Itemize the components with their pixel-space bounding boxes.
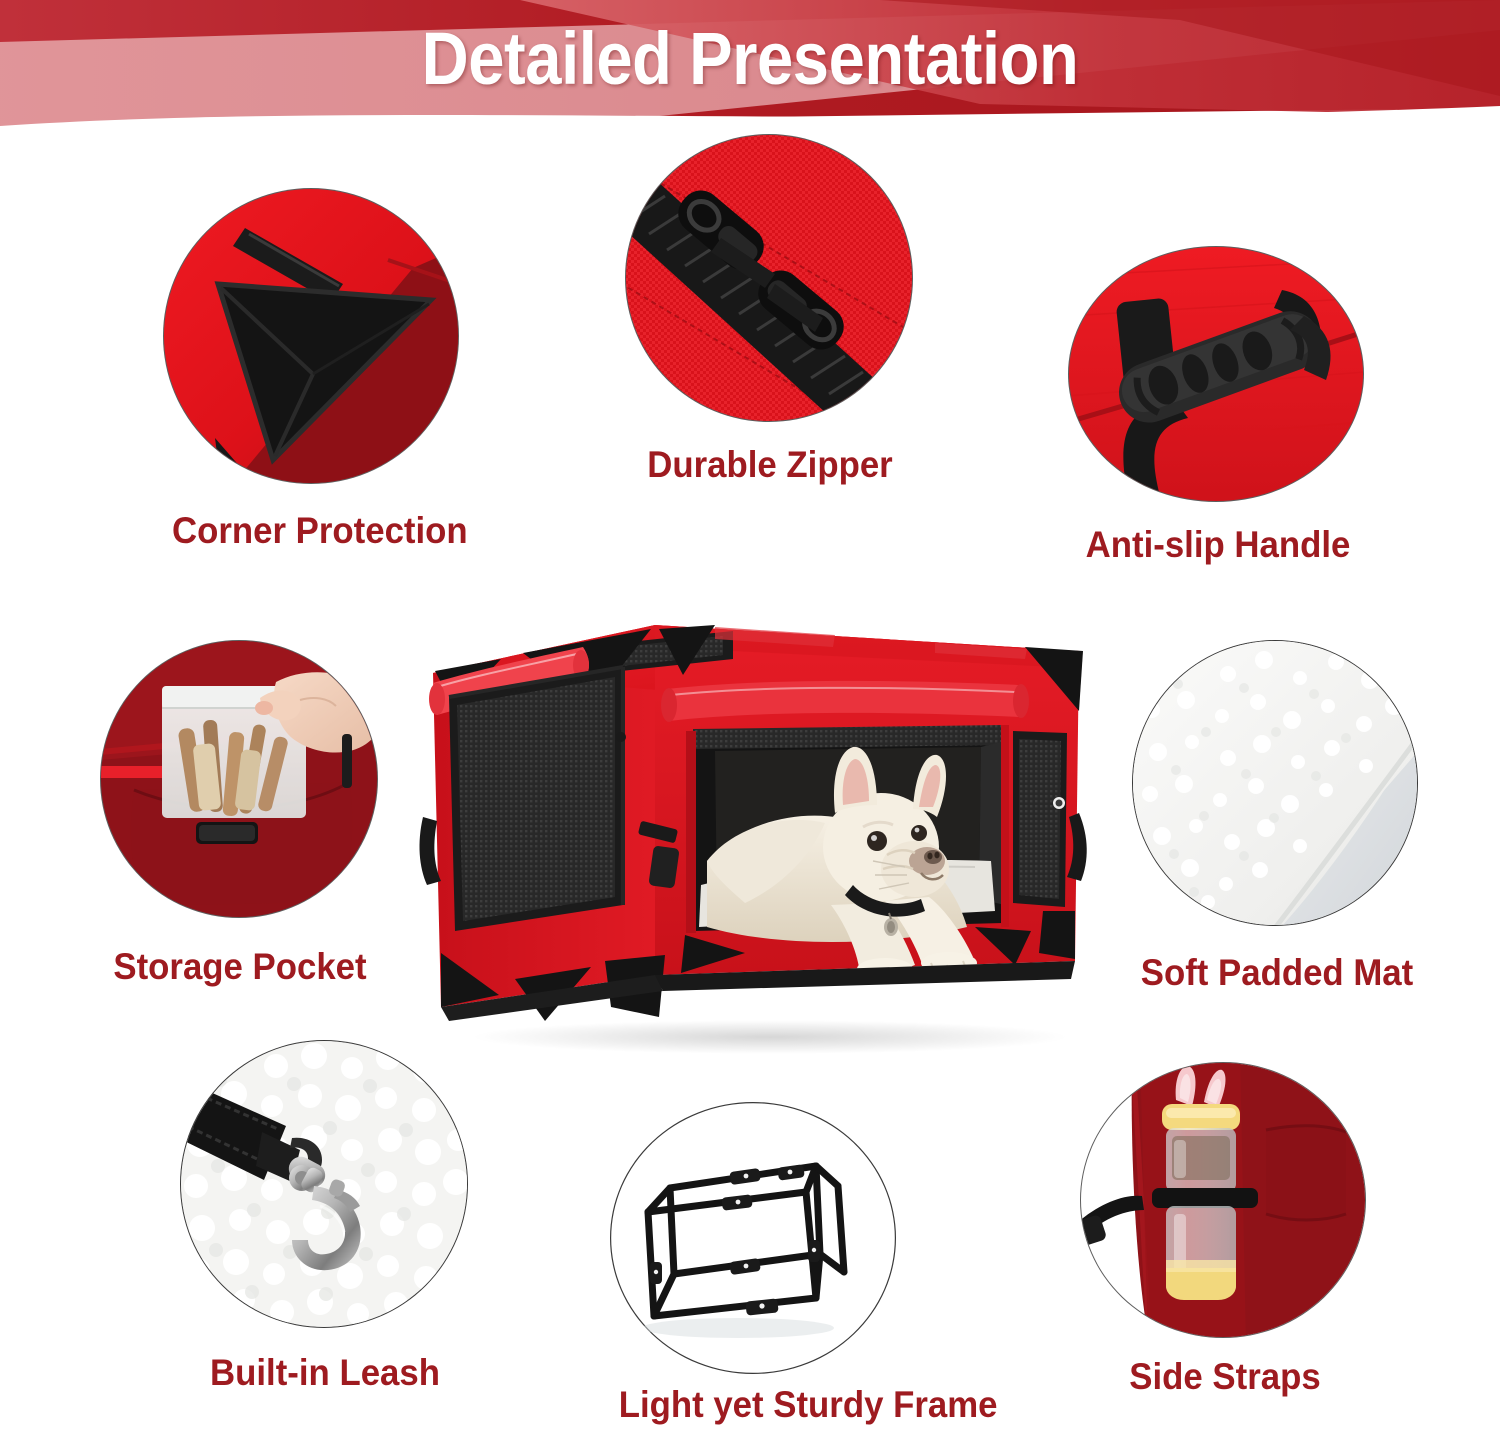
side-straps-art bbox=[1080, 1062, 1366, 1338]
storage-pocket-image bbox=[100, 640, 378, 918]
feature-built-in-leash: Built-in Leash bbox=[180, 1040, 470, 1394]
durable-zipper-art bbox=[625, 134, 913, 422]
anti-slip-handle-image bbox=[1068, 246, 1364, 502]
feature-label-side-straps: Side Straps bbox=[1089, 1356, 1362, 1398]
storage-pocket-art bbox=[100, 640, 378, 918]
feature-label-corner-protection: Corner Protection bbox=[172, 510, 454, 552]
frame-art bbox=[610, 1102, 896, 1374]
feature-label-built-in-leash: Built-in Leash bbox=[189, 1352, 462, 1394]
feature-label-sturdy-frame: Light yet Sturdy Frame bbox=[619, 1384, 892, 1426]
feature-anti-slip-handle: Anti-slip Handle bbox=[1068, 246, 1368, 566]
feature-corner-protection: Corner Protection bbox=[163, 188, 463, 552]
sturdy-frame-image bbox=[610, 1102, 896, 1374]
anti-slip-handle-art bbox=[1068, 246, 1364, 502]
feature-soft-padded-mat: Soft Padded Mat bbox=[1132, 640, 1422, 994]
built-in-leash-art bbox=[180, 1040, 468, 1328]
header-banner: Detailed Presentation bbox=[0, 0, 1500, 132]
feature-label-durable-zipper: Durable Zipper bbox=[634, 444, 907, 486]
feature-label-soft-padded-mat: Soft Padded Mat bbox=[1141, 952, 1414, 994]
page-title: Detailed Presentation bbox=[90, 16, 1410, 101]
product-image: pettycare bbox=[415, 555, 1105, 1050]
feature-storage-pocket: Storage Pocket bbox=[100, 640, 380, 988]
soft-padded-mat-art bbox=[1132, 640, 1418, 926]
corner-protection-image bbox=[163, 188, 459, 484]
durable-zipper-image bbox=[625, 134, 913, 422]
corner-protection-art bbox=[163, 188, 459, 484]
pet-crate-illustration: pettycare bbox=[415, 555, 1105, 1050]
feature-label-storage-pocket: Storage Pocket bbox=[108, 946, 371, 988]
built-in-leash-image bbox=[180, 1040, 468, 1328]
side-straps-image bbox=[1080, 1062, 1366, 1338]
feature-durable-zipper: Durable Zipper bbox=[625, 134, 915, 486]
feature-side-straps: Side Straps bbox=[1080, 1062, 1370, 1398]
soft-padded-mat-image bbox=[1132, 640, 1418, 926]
feature-sturdy-frame: Light yet Sturdy Frame bbox=[610, 1102, 900, 1426]
feature-label-anti-slip-handle: Anti-slip Handle bbox=[1077, 524, 1359, 566]
